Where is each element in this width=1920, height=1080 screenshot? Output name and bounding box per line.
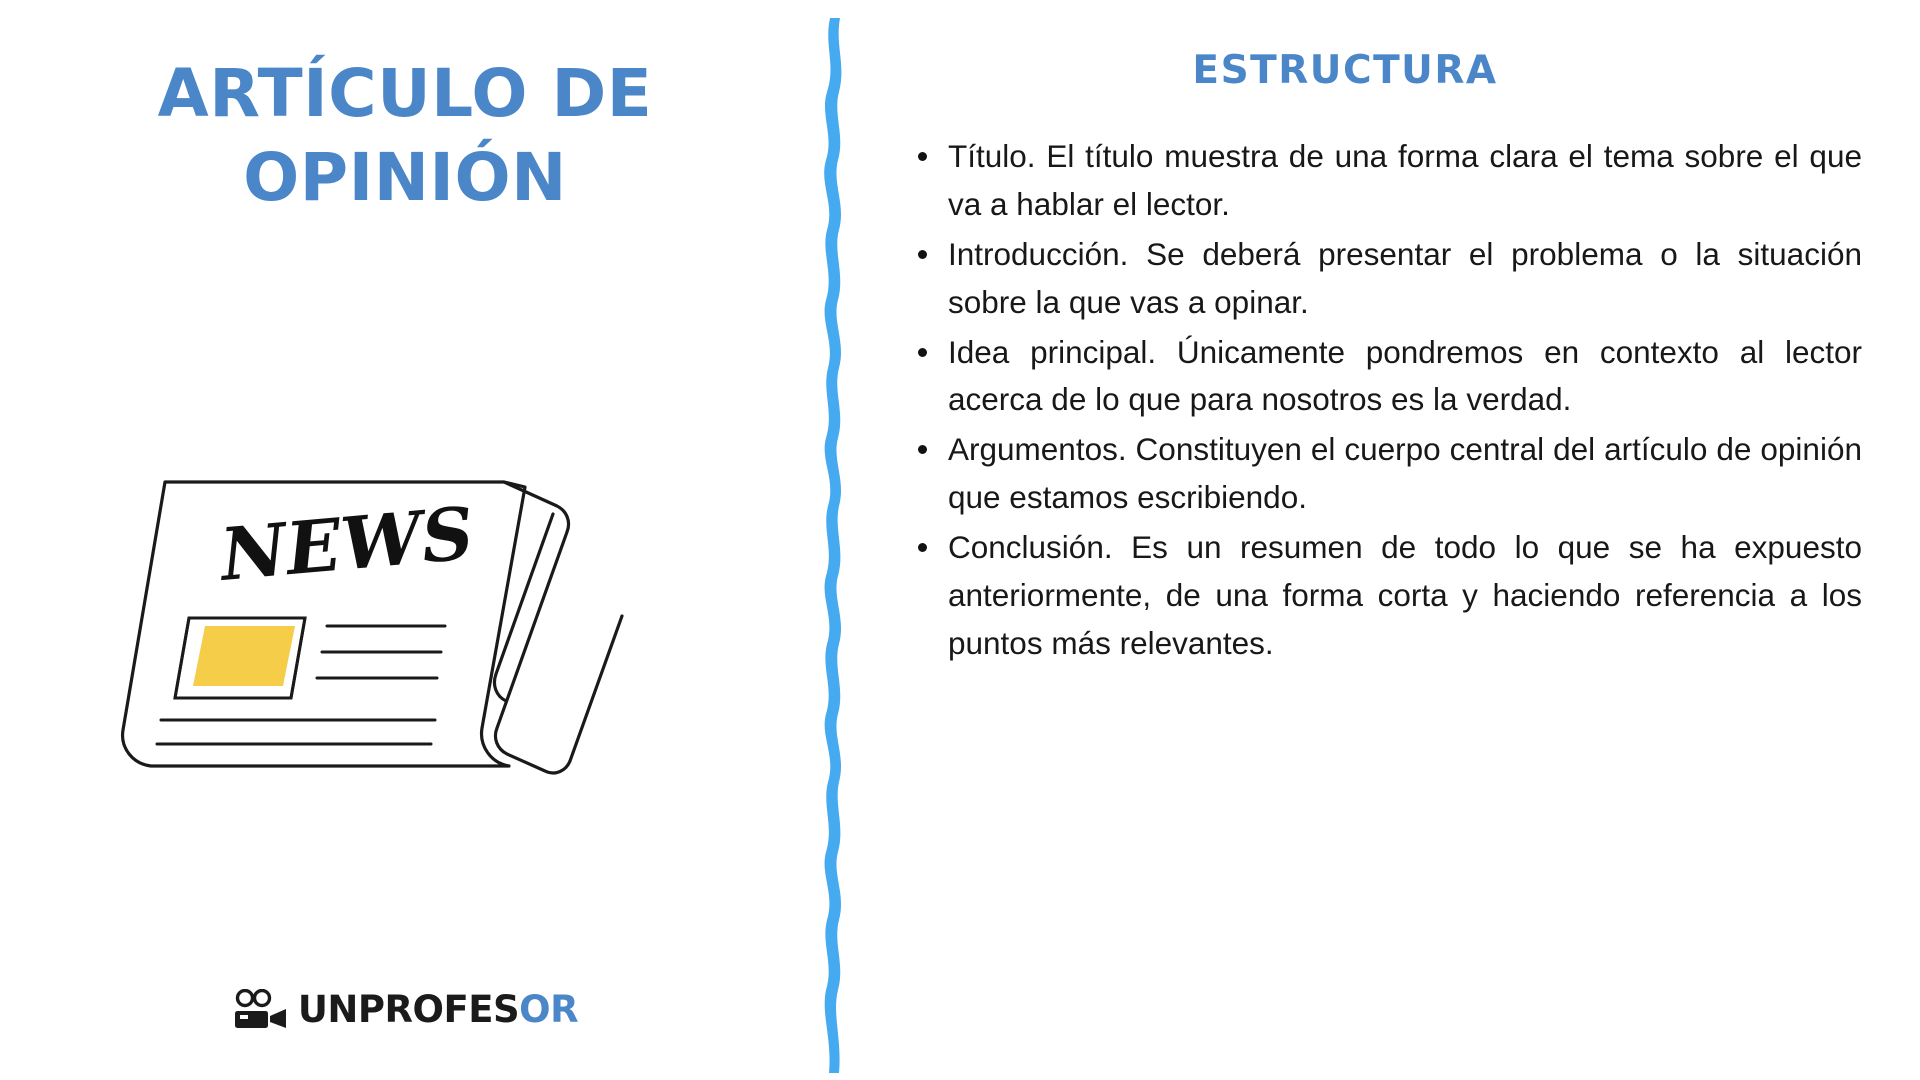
- camera-icon: [232, 989, 290, 1031]
- slide-root: ARTÍCULO DE OPINIÓN: [0, 0, 1920, 1080]
- unprofesor-logo: UNPROFESOR: [0, 988, 810, 1031]
- logo-text: UNPROFESOR: [298, 988, 578, 1031]
- list-item: Idea principal. Únicamente pondremos en …: [948, 329, 1862, 425]
- logo-text-accent: OR: [519, 988, 578, 1031]
- list-item: Título. El título muestra de una forma c…: [948, 133, 1862, 229]
- page-title: ARTÍCULO DE OPINIÓN: [0, 52, 810, 221]
- list-item: Conclusión. Es un resumen de todo lo que…: [948, 524, 1862, 668]
- right-panel: ESTRUCTURA Título. El título muestra de …: [880, 0, 1900, 1080]
- list-item: Introducción. Se deberá presentar el pro…: [948, 231, 1862, 327]
- brush-stroke-divider: [812, 18, 852, 1073]
- logo-text-prefix: UNPROFES: [298, 988, 519, 1031]
- newspaper-illustration: NEWS: [105, 430, 645, 800]
- newspaper-headline: NEWS: [215, 490, 477, 597]
- page-title-line-2: OPINIÓN: [0, 136, 810, 220]
- page-title-line-1: ARTÍCULO DE: [0, 52, 810, 136]
- section-heading: ESTRUCTURA: [880, 48, 1900, 93]
- left-panel: ARTÍCULO DE OPINIÓN: [0, 0, 810, 1080]
- structure-list: Título. El título muestra de una forma c…: [880, 133, 1900, 668]
- list-item: Argumentos. Constituyen el cuerpo centra…: [948, 426, 1862, 522]
